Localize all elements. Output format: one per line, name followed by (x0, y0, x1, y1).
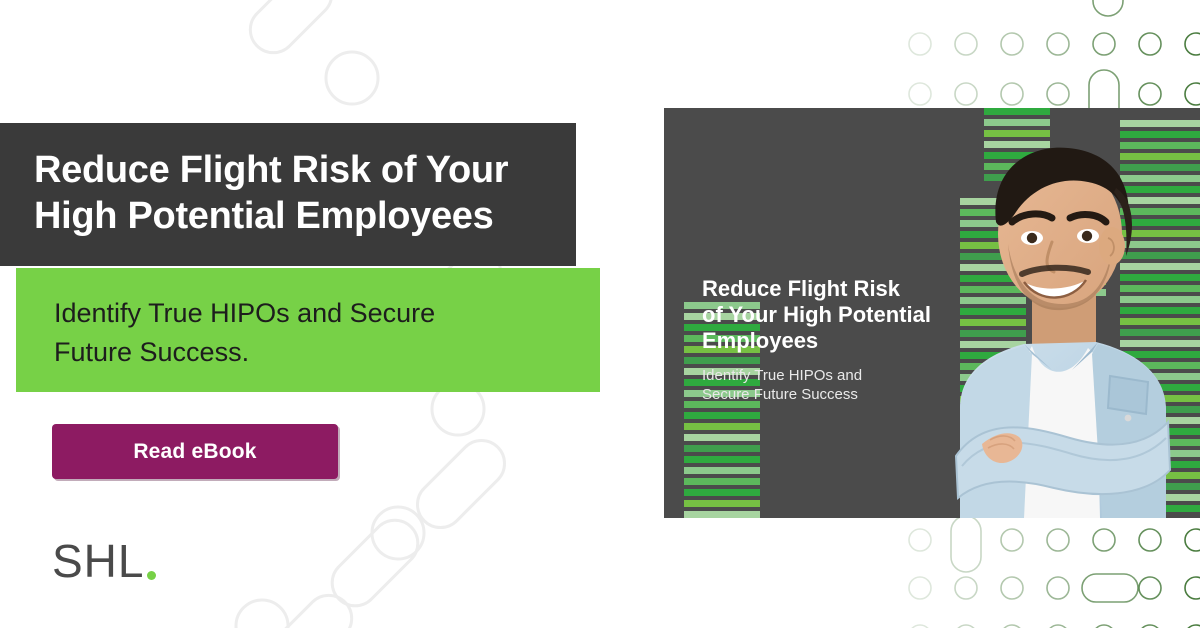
ebook-cover-copy: Reduce Flight Risk of Your High Potentia… (702, 276, 962, 404)
dot-grid-bottom-decoration (900, 518, 1200, 628)
shl-logo: SHL (52, 538, 156, 584)
promo-banner: Reduce Flight Risk of Your High Potentia… (0, 0, 1200, 628)
shl-logo-text: SHL (52, 538, 144, 584)
subheading-block: Identify True HIPOs and Secure Future Su… (16, 268, 600, 392)
subheading-line-2: Future Success. (54, 333, 570, 372)
person-photo (920, 126, 1200, 518)
ebook-subtitle-line-2: Secure Future Success (702, 385, 962, 404)
read-ebook-button[interactable]: Read eBook (52, 424, 338, 479)
headline-block: Reduce Flight Risk of Your High Potentia… (0, 123, 576, 266)
ebook-subtitle-line-1: Identify True HIPOs and (702, 366, 962, 385)
shl-logo-dot-icon (147, 571, 156, 580)
headline-line-2: High Potential Employees (34, 193, 546, 239)
dot-grid-top-decoration (900, 0, 1200, 108)
ebook-cover-panel[interactable]: Reduce Flight Risk of Your High Potentia… (664, 108, 1200, 518)
subheading-line-1: Identify True HIPOs and Secure (54, 294, 570, 333)
ebook-title-line-1: Reduce Flight Risk (702, 276, 962, 302)
ebook-title-line-2: of Your High Potential (702, 302, 962, 328)
ebook-title-line-3: Employees (702, 328, 962, 354)
headline-line-1: Reduce Flight Risk of Your (34, 147, 546, 193)
